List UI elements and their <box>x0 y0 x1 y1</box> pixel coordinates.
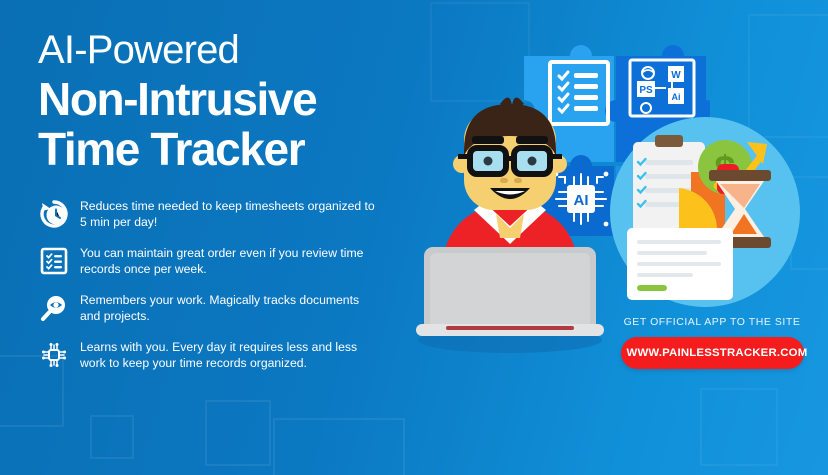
decor-square <box>205 400 271 466</box>
neural-network-icon <box>38 339 70 371</box>
call-to-action: GET OFFICIAL APP TO THE SITE WWW.PAINLES… <box>612 316 812 369</box>
list-item-label: Remembers your work. Magically tracks do… <box>80 292 378 324</box>
decor-square <box>700 388 778 466</box>
decor-square <box>90 415 134 459</box>
list-item-label: You can maintain great order even if you… <box>80 245 378 277</box>
website-cta-button[interactable]: WWW.PAINLESSTRACKER.COM <box>621 337 804 369</box>
svg-text:Ai: Ai <box>672 92 681 102</box>
list-item-label: Reduces time needed to keep timesheets o… <box>80 198 378 230</box>
checklist-icon <box>38 245 70 277</box>
headline-line-2: Non-Intrusive <box>38 74 316 124</box>
productivity-illustration: $ <box>605 112 805 317</box>
magnifier-eye-icon <box>38 292 70 324</box>
feature-list: Reduces time needed to keep timesheets o… <box>38 198 378 386</box>
list-item: You can maintain great order even if you… <box>38 245 378 277</box>
headline-line-3: Time Tracker <box>38 124 316 174</box>
headline-line-1: AI-Powered <box>38 26 316 74</box>
cta-label: GET OFFICIAL APP TO THE SITE <box>612 316 812 328</box>
decor-square <box>430 2 530 102</box>
character-illustration <box>388 92 628 362</box>
list-item: Learns with you. Every day it requires l… <box>38 339 378 371</box>
clock-history-icon <box>38 198 70 230</box>
page-title: AI-Powered Non-Intrusive Time Tracker <box>38 26 316 174</box>
list-item: Remembers your work. Magically tracks do… <box>38 292 378 324</box>
decor-square <box>273 418 405 475</box>
svg-text:W: W <box>671 70 681 81</box>
promo-banner: AI-Powered Non-Intrusive Time Tracker <box>0 0 828 475</box>
list-item: Reduces time needed to keep timesheets o… <box>38 198 378 230</box>
svg-text:PS: PS <box>639 85 653 96</box>
list-item-label: Learns with you. Every day it requires l… <box>80 339 378 371</box>
